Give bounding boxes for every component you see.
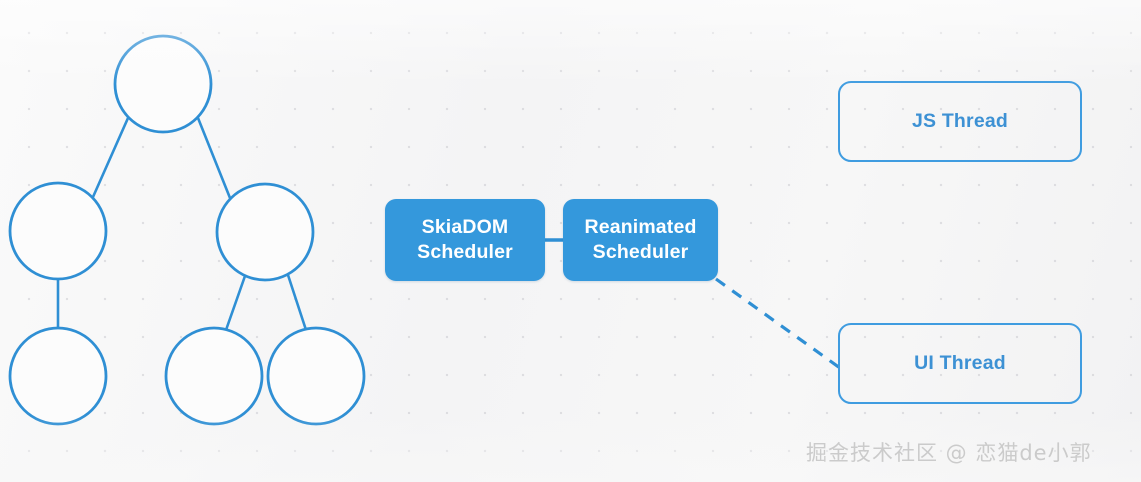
skiadom-scheduler-label-wrap: SkiaDOM Scheduler: [417, 215, 513, 265]
reanimated-scheduler-box[interactable]: Reanimated Scheduler: [563, 199, 718, 281]
reanimated-scheduler-label-line2: Scheduler: [584, 240, 696, 265]
skiadom-scheduler-box[interactable]: SkiaDOM Scheduler: [385, 199, 545, 281]
reanimated-scheduler-label-line1: Reanimated: [584, 215, 696, 240]
js-thread-label: JS Thread: [912, 110, 1008, 133]
reanimated-to-ui-thread-link: [716, 279, 840, 368]
reanimated-scheduler-label-wrap: Reanimated Scheduler: [584, 215, 696, 265]
skiadom-scheduler-label-line2: Scheduler: [417, 240, 513, 265]
ui-thread-box[interactable]: UI Thread: [838, 323, 1082, 404]
skiadom-scheduler-label-line1: SkiaDOM: [417, 215, 513, 240]
diagram-canvas: SkiaDOM Scheduler Reanimated Scheduler J…: [0, 0, 1141, 482]
js-thread-box[interactable]: JS Thread: [838, 81, 1082, 162]
watermark-text: 掘金技术社区 @ 恋猫de小郭: [806, 437, 1092, 467]
ui-thread-label: UI Thread: [914, 352, 1006, 375]
